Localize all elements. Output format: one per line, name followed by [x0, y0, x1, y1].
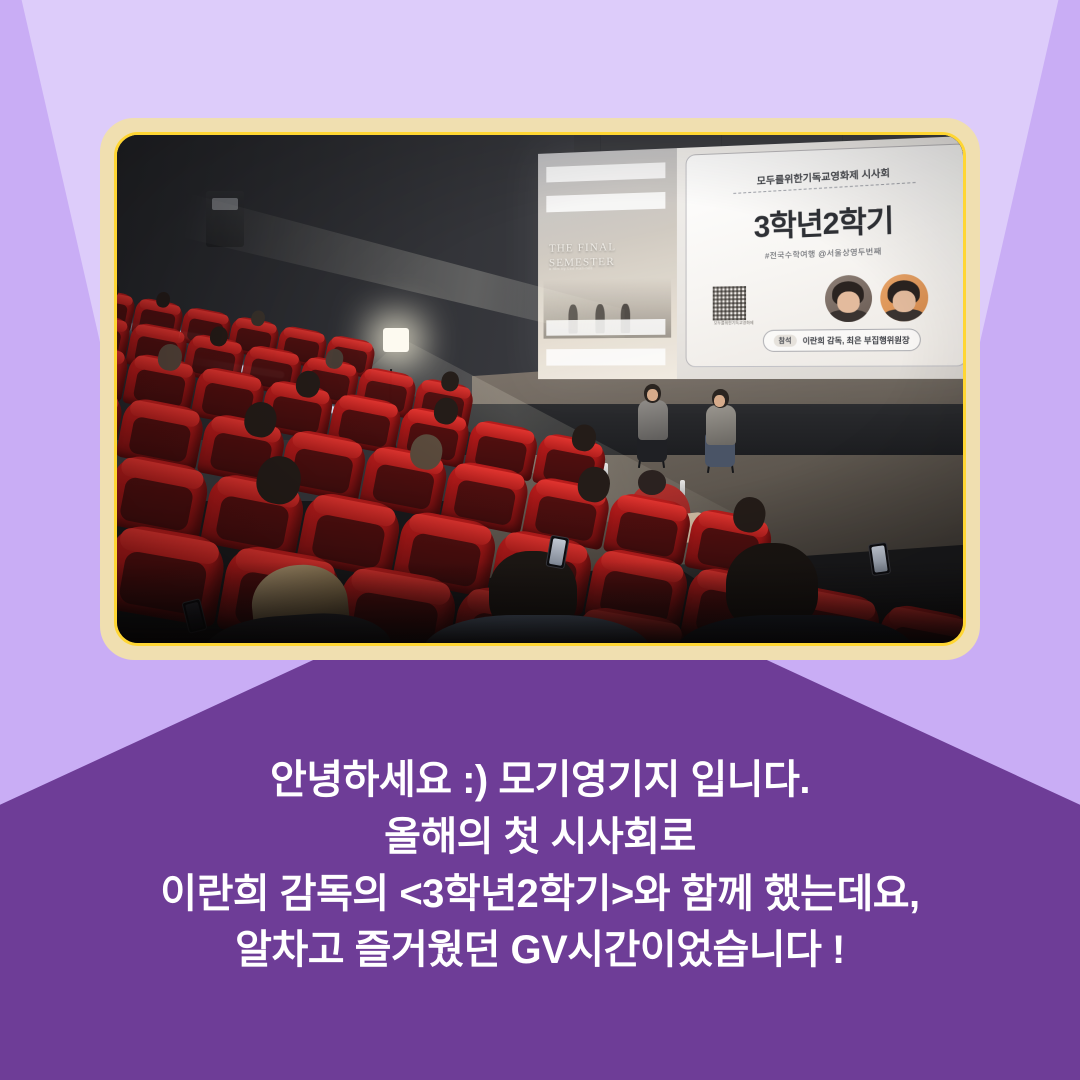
foreground-shadow [117, 562, 963, 643]
cinema-scene: THE FINAL SEMESTER a film by Lee Ran-hee… [117, 135, 963, 643]
wall-speaker-icon [206, 191, 244, 247]
slide-film-title: 3학년2학기 [708, 193, 943, 248]
slide-hashtags: #전국수학여행 @서울상영두번째 [708, 244, 942, 264]
slide-header: 모두를위한기독교영화제 시사회 [708, 161, 943, 191]
caption-line-1: 안녕하세요 :) 모기영기지 입니다. [0, 752, 1080, 809]
caption-line-2: 올해의 첫 시사회로 [0, 809, 1080, 866]
poster-subtitle: a film by Lee Ran-hee [549, 264, 660, 271]
photo-inner: THE FINAL SEMESTER a film by Lee Ran-hee… [114, 132, 966, 646]
social-card: THE FINAL SEMESTER a film by Lee Ran-hee… [0, 0, 1080, 1080]
caption-line-3: 이란희 감독의 <3학년2학기>와 함께 했는데요, [0, 866, 1080, 923]
caption-line-4: 알차고 즐거웠던 GV시간이었습니다 ! [0, 922, 1080, 979]
caption-block: 안녕하세요 :) 모기영기지 입니다. 올해의 첫 시사회로 이란희 감독의 <… [0, 752, 1080, 979]
photo-frame: THE FINAL SEMESTER a film by Lee Ran-hee… [100, 118, 980, 660]
